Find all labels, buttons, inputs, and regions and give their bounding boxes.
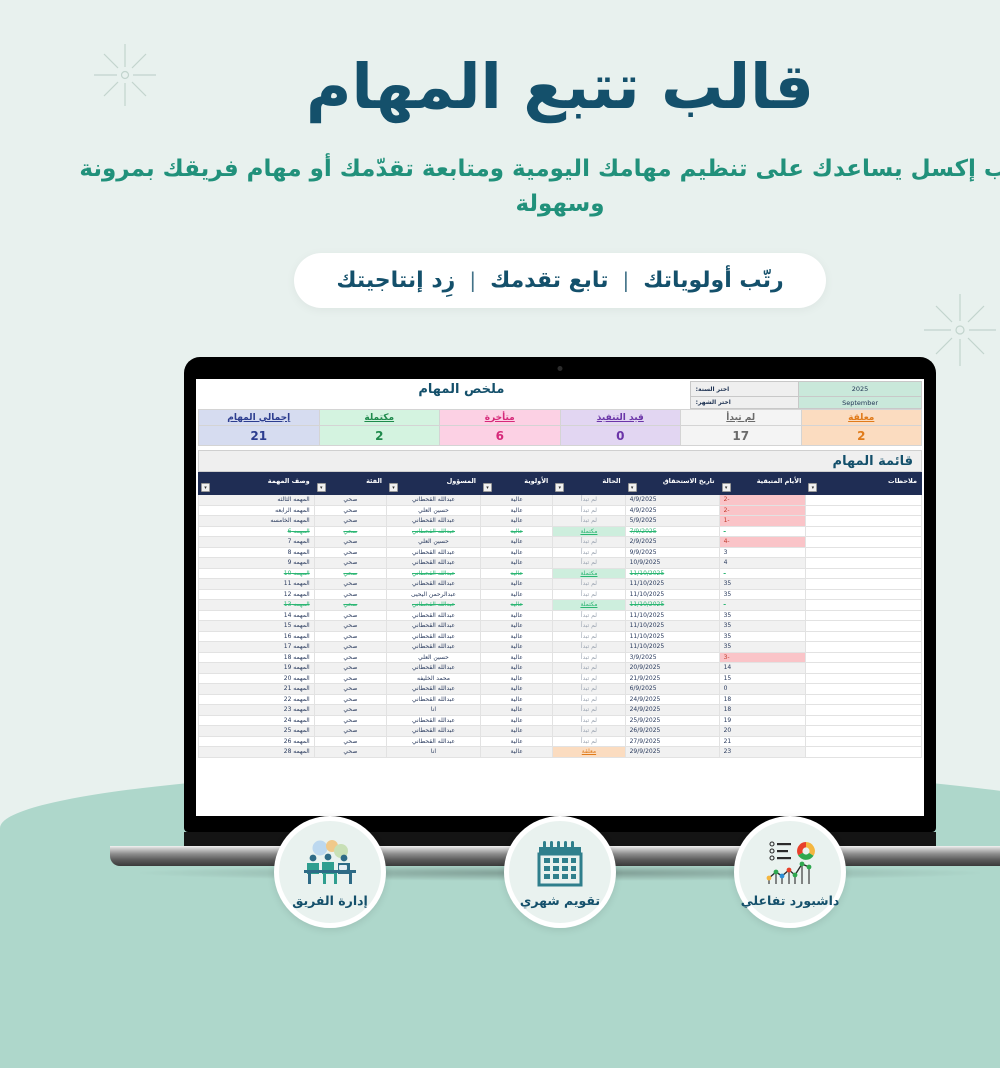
card-label-completed: مكتملة	[259, 410, 380, 426]
task-list-title: قائمة المهام	[773, 454, 853, 469]
feature-badges: داشبورد تفاعلي	[0, 816, 1000, 928]
task-table: ملاحظات▾ الأيام المتبقية▾ تاريخ الاستحقا…	[138, 472, 862, 758]
cell-owner[interactable]: عبدالله القحطاني	[327, 642, 421, 653]
cell-status[interactable]: مكتملة	[493, 600, 565, 611]
card-value-not-started: 17	[621, 426, 742, 446]
cell-category[interactable]: صحي	[254, 705, 326, 716]
cell-days-left[interactable]: -2	[659, 495, 746, 506]
cell-task-desc[interactable]: المهمه 8	[139, 547, 255, 558]
cell-notes[interactable]	[746, 747, 862, 758]
cell-priority[interactable]: عالية	[421, 537, 493, 548]
cell-notes[interactable]	[746, 579, 862, 590]
table-row[interactable]: 2329/9/2025معلقةعاليةاناصحيالمهمه 28	[139, 747, 862, 758]
cell-priority[interactable]: عالية	[421, 642, 493, 653]
cell-notes[interactable]	[746, 505, 862, 516]
cell-task-desc[interactable]: المهمه 22	[139, 694, 255, 705]
spreadsheet-view: 2025 اختر السنة: ملخص المهام September ا…	[136, 379, 864, 816]
cell-task-desc[interactable]: المهمه 10	[139, 568, 255, 579]
table-row[interactable]: 1824/9/2025لم تبدأعاليةعبدالله القحطانيص…	[139, 694, 862, 705]
summary-card-labels: معلقة لم تبدأ قيد التنفيذ متأخرة مكتملة …	[139, 410, 862, 426]
cell-owner[interactable]: عبدالرحمن اليحيى	[327, 589, 421, 600]
card-label-total: إجمالي المهام	[139, 410, 260, 426]
cell-priority[interactable]: عالية	[421, 715, 493, 726]
cell-status[interactable]: لم تبدأ	[493, 610, 565, 621]
cell-category[interactable]: صحي	[254, 715, 326, 726]
table-row[interactable]: 3511/10/2025لم تبدأعاليةعبدالله القحطاني…	[139, 579, 862, 590]
cell-task-desc[interactable]: المهمه 14	[139, 610, 255, 621]
cell-notes[interactable]	[746, 516, 862, 527]
cell-task-desc[interactable]: المهمه 18	[139, 652, 255, 663]
cell-status[interactable]: لم تبدأ	[493, 726, 565, 737]
cell-task-desc[interactable]: المهمه 16	[139, 631, 255, 642]
cell-owner[interactable]: عبدالله القحطاني	[327, 526, 421, 537]
cell-notes[interactable]	[746, 568, 862, 579]
cell-task-desc[interactable]: المهمه 12	[139, 589, 255, 600]
cell-owner[interactable]: عبدالله القحطاني	[327, 516, 421, 527]
col-due-date[interactable]: تاريخ الاستحقاق▾	[565, 473, 659, 495]
month-label: اختر الشهر:	[630, 397, 738, 409]
calendar-icon	[477, 836, 523, 890]
cell-days-left[interactable]: 19	[659, 715, 746, 726]
cell-priority[interactable]: عالية	[421, 516, 493, 527]
cell-days-left[interactable]: 35	[659, 589, 746, 600]
cell-owner[interactable]: عبدالله القحطاني	[327, 736, 421, 747]
cell-category[interactable]: صحي	[254, 694, 326, 705]
cell-notes[interactable]	[746, 495, 862, 506]
table-row[interactable]: 1925/9/2025لم تبدأعاليةعبدالله القحطانيص…	[139, 715, 862, 726]
cell-status[interactable]: مكتملة	[493, 526, 565, 537]
cell-due-date[interactable]: 29/9/2025	[565, 747, 659, 758]
cell-category[interactable]: صحي	[254, 663, 326, 674]
cell-notes[interactable]	[746, 736, 862, 747]
cell-days-left[interactable]: 0	[659, 684, 746, 695]
card-label-on-hold: معلقة	[741, 410, 862, 426]
cell-task-desc[interactable]: المهمه الثالثه	[139, 495, 255, 506]
cell-days-left[interactable]: -	[659, 526, 746, 537]
cell-category[interactable]: صحي	[254, 610, 326, 621]
cell-category[interactable]: صحي	[254, 516, 326, 527]
cell-priority[interactable]: عالية	[421, 663, 493, 674]
cell-status[interactable]: لم تبدأ	[493, 694, 565, 705]
cell-status[interactable]: مكتملة	[493, 568, 565, 579]
cell-due-date[interactable]: 4/9/2025	[565, 505, 659, 516]
card-value-total: 21	[139, 426, 260, 446]
cell-task-desc[interactable]: المهمه 9	[139, 558, 255, 569]
cell-category[interactable]: صحي	[254, 642, 326, 653]
task-table-body: -24/9/2025لم تبدأعاليةعبدالله القحطانيصح…	[139, 495, 862, 758]
col-status[interactable]: الحالة▾	[493, 473, 565, 495]
cell-due-date[interactable]: 4/9/2025	[565, 495, 659, 506]
cell-status[interactable]: معلقة	[493, 747, 565, 758]
webcam-icon	[498, 366, 503, 371]
cell-task-desc[interactable]: المهمه 15	[139, 621, 255, 632]
cell-task-desc[interactable]: المهمه 13	[139, 600, 255, 611]
table-row[interactable]: 3511/10/2025لم تبدأعاليةعبدالله القحطاني…	[139, 621, 862, 632]
cell-category[interactable]: صحي	[254, 589, 326, 600]
cell-task-desc[interactable]: المهمه 28	[139, 747, 255, 758]
cell-priority[interactable]: عالية	[421, 705, 493, 716]
table-row[interactable]: -24/9/2025لم تبدأعاليةعبدالله القحطانيصح…	[139, 495, 862, 506]
cell-days-left[interactable]: -	[659, 600, 746, 611]
cell-days-left[interactable]: 35	[659, 621, 746, 632]
cell-task-desc[interactable]: المهمه 17	[139, 642, 255, 653]
cell-category[interactable]: صحي	[254, 505, 326, 516]
cell-status[interactable]: لم تبدأ	[493, 673, 565, 684]
cell-owner[interactable]: انا	[327, 705, 421, 716]
cell-due-date[interactable]: 11/10/2025	[565, 568, 659, 579]
summary-spacer	[139, 397, 450, 409]
cell-category[interactable]: صحي	[254, 684, 326, 695]
cell-task-desc[interactable]: المهمه 20	[139, 673, 255, 684]
cell-status[interactable]: لم تبدأ	[493, 631, 565, 642]
summary-spacer	[449, 397, 630, 409]
cell-owner[interactable]: عبدالله القحطاني	[327, 684, 421, 695]
cell-task-desc[interactable]: المهمه 11	[139, 579, 255, 590]
cell-notes[interactable]	[746, 621, 862, 632]
cell-category[interactable]: صحي	[254, 600, 326, 611]
cell-task-desc[interactable]: المهمه 21	[139, 684, 255, 695]
cell-priority[interactable]: عالية	[421, 495, 493, 506]
cell-owner[interactable]: عبدالله القحطاني	[327, 631, 421, 642]
cell-due-date[interactable]: 11/10/2025	[565, 600, 659, 611]
filter-icon[interactable]: ▾	[423, 483, 432, 492]
cell-owner[interactable]: عبدالله القحطاني	[327, 694, 421, 705]
cell-task-desc[interactable]: المهمه 23	[139, 705, 255, 716]
cell-category[interactable]: صحي	[254, 631, 326, 642]
card-value-completed: 2	[259, 426, 380, 446]
feature-pill-1: رتّب أولوياتك	[583, 268, 723, 293]
table-row[interactable]: 2026/9/2025لم تبدأعاليةعبدالله القحطانيص…	[139, 726, 862, 737]
card-value-late: 6	[380, 426, 501, 446]
cell-notes[interactable]	[746, 715, 862, 726]
cell-category[interactable]: صحي	[254, 537, 326, 548]
cell-owner[interactable]: عبدالله القحطاني	[327, 568, 421, 579]
cell-days-left[interactable]: 3	[659, 547, 746, 558]
cell-days-left[interactable]: -1	[659, 516, 746, 527]
cell-task-desc[interactable]: المهمه 24	[139, 715, 255, 726]
cell-owner[interactable]: عبدالله القحطاني	[327, 558, 421, 569]
summary-card-values: 2 17 0 6 2 21	[139, 426, 862, 446]
filter-icon[interactable]: ▾	[662, 483, 671, 492]
cell-due-date[interactable]: 10/9/2025	[565, 558, 659, 569]
table-row[interactable]: 1420/9/2025لم تبدأعاليةعبدالله القحطانيص…	[139, 663, 862, 674]
cell-priority[interactable]: عالية	[421, 505, 493, 516]
filter-icon[interactable]: ▾	[141, 483, 150, 492]
card-label-not-started: لم تبدأ	[621, 410, 742, 426]
hero-section: قالب تتبع المهام قالب إكسل يساعدك على تن…	[0, 0, 1000, 308]
cell-status[interactable]: لم تبدأ	[493, 558, 565, 569]
summary-section: 2025 اختر السنة: ملخص المهام September ا…	[136, 379, 864, 446]
cell-days-left[interactable]: 23	[659, 747, 746, 758]
cell-due-date[interactable]: 11/10/2025	[565, 610, 659, 621]
cell-category[interactable]: صحي	[254, 673, 326, 684]
cell-priority[interactable]: عالية	[421, 579, 493, 590]
cell-owner[interactable]: عبدالله القحطاني	[327, 579, 421, 590]
cell-due-date[interactable]: 2/9/2025	[565, 537, 659, 548]
task-list-header: قائمة المهام	[138, 450, 862, 472]
cell-days-left[interactable]: -2	[659, 505, 746, 516]
cell-status[interactable]: لم تبدأ	[493, 736, 565, 747]
card-label-late: متأخرة	[380, 410, 501, 426]
cell-category[interactable]: صحي	[254, 747, 326, 758]
cell-priority[interactable]: عالية	[421, 736, 493, 747]
cell-task-desc[interactable]: المهمه الرابعه	[139, 505, 255, 516]
col-days-left[interactable]: الأيام المتبقية▾	[659, 473, 746, 495]
table-row[interactable]: -7/9/2025مكتملةعاليةعبدالله القحطانيصحيا…	[139, 526, 862, 537]
cell-owner[interactable]: حسين العلي	[327, 505, 421, 516]
filter-icon[interactable]: ▾	[257, 483, 266, 492]
cell-notes[interactable]	[746, 673, 862, 684]
cell-days-left[interactable]: 35	[659, 610, 746, 621]
cell-status[interactable]: لم تبدأ	[493, 642, 565, 653]
table-row[interactable]: 39/9/2025لم تبدأعاليةعبدالله القحطانيصحي…	[139, 547, 862, 558]
cell-category[interactable]: صحي	[254, 495, 326, 506]
year-label: اختر السنة:	[630, 382, 738, 397]
cell-days-left[interactable]: 14	[659, 663, 746, 674]
cell-owner[interactable]: حسين العلي	[327, 652, 421, 663]
card-value-in-progress: 0	[500, 426, 621, 446]
cell-due-date[interactable]: 9/9/2025	[565, 547, 659, 558]
table-row[interactable]: -33/9/2025لم تبدأعاليةحسين العليصحيالمهم…	[139, 652, 862, 663]
cell-category[interactable]: صحي	[254, 621, 326, 632]
cell-notes[interactable]	[746, 600, 862, 611]
col-task-desc[interactable]: وصف المهمة▾	[139, 473, 255, 495]
cell-notes[interactable]	[746, 610, 862, 621]
cell-status[interactable]: لم تبدأ	[493, 705, 565, 716]
table-row[interactable]: -24/9/2025لم تبدأعاليةحسين العليصحيالمهم…	[139, 505, 862, 516]
cell-status[interactable]: لم تبدأ	[493, 715, 565, 726]
cell-days-left[interactable]: 15	[659, 673, 746, 684]
page-title: قالب تتبع المهام	[0, 48, 1000, 126]
cell-due-date[interactable]: 11/10/2025	[565, 642, 659, 653]
laptop-mockup: 2025 اختر السنة: ملخص المهام September ا…	[124, 357, 876, 872]
cell-days-left[interactable]: 4	[659, 558, 746, 569]
cell-priority[interactable]: عالية	[421, 673, 493, 684]
cell-due-date[interactable]: 27/9/2025	[565, 736, 659, 747]
cell-owner[interactable]: محمد الخليفه	[327, 673, 421, 684]
cell-due-date[interactable]: 26/9/2025	[565, 726, 659, 737]
cell-priority[interactable]: عالية	[421, 589, 493, 600]
cell-due-date[interactable]: 7/9/2025	[565, 526, 659, 537]
cell-task-desc[interactable]: المهمه 6	[139, 526, 255, 537]
table-row[interactable]: -11/10/2025مكتملةعاليةعبدالله القحطانيصح…	[139, 568, 862, 579]
cell-priority[interactable]: عالية	[421, 558, 493, 569]
col-priority[interactable]: الأولوية▾	[421, 473, 493, 495]
cell-due-date[interactable]: 6/9/2025	[565, 684, 659, 695]
table-row[interactable]: 3511/10/2025لم تبدأعاليةعبدالله القحطاني…	[139, 631, 862, 642]
col-notes[interactable]: ملاحظات▾	[746, 473, 862, 495]
cell-owner[interactable]: عبدالله القحطاني	[327, 610, 421, 621]
month-value[interactable]: September	[739, 397, 862, 409]
cell-priority[interactable]: عالية	[421, 652, 493, 663]
cell-days-left[interactable]: -3	[659, 652, 746, 663]
cell-due-date[interactable]: 24/9/2025	[565, 705, 659, 716]
filter-icon[interactable]: ▾	[568, 483, 577, 492]
cell-notes[interactable]	[746, 726, 862, 737]
cell-due-date[interactable]: 24/9/2025	[565, 694, 659, 705]
feature-pill-bar: رتّب أولوياتك | تابع تقدمك | زِد إنتاجيت…	[234, 253, 765, 308]
cell-status[interactable]: لم تبدأ	[493, 621, 565, 632]
cell-days-left[interactable]: 35	[659, 579, 746, 590]
cell-status[interactable]: لم تبدأ	[493, 537, 565, 548]
cell-notes[interactable]	[746, 705, 862, 716]
cell-owner[interactable]: عبدالله القحطاني	[327, 495, 421, 506]
cell-owner[interactable]: حسين العلي	[327, 537, 421, 548]
cell-days-left[interactable]: 18	[659, 694, 746, 705]
task-table-header-row: ملاحظات▾ الأيام المتبقية▾ تاريخ الاستحقا…	[139, 473, 862, 495]
cell-status[interactable]: لم تبدأ	[493, 495, 565, 506]
cell-days-left[interactable]: 35	[659, 631, 746, 642]
cell-notes[interactable]	[746, 537, 862, 548]
cell-priority[interactable]: عالية	[421, 600, 493, 611]
cell-notes[interactable]	[746, 589, 862, 600]
cell-priority[interactable]: عالية	[421, 621, 493, 632]
dashboard-chart-icon	[704, 836, 756, 890]
table-row[interactable]: 3511/10/2025لم تبدأعاليةعبدالله القحطاني…	[139, 610, 862, 621]
laptop-screen-bezel: 2025 اختر السنة: ملخص المهام September ا…	[124, 357, 876, 832]
cell-notes[interactable]	[746, 631, 862, 642]
summary-cards: معلقة لم تبدأ قيد التنفيذ متأخرة مكتملة …	[138, 409, 862, 446]
table-row[interactable]: -11/10/2025مكتملةعاليةعبدالله القحطانيصح…	[139, 600, 862, 611]
summary-title: ملخص المهام	[139, 382, 450, 397]
summary-spacer	[449, 382, 630, 397]
cell-notes[interactable]	[746, 684, 862, 695]
table-row[interactable]: 3511/10/2025لم تبدأعاليةعبدالله القحطاني…	[139, 642, 862, 653]
cell-category[interactable]: صحي	[254, 726, 326, 737]
feature-pill-3: زِد إنتاجيتك	[276, 268, 395, 293]
cell-notes[interactable]	[746, 652, 862, 663]
cell-due-date[interactable]: 11/10/2025	[565, 621, 659, 632]
table-row[interactable]: 1824/9/2025لم تبدأعاليةاناصحيالمهمه 23	[139, 705, 862, 716]
cell-owner[interactable]: عبدالله القحطاني	[327, 663, 421, 674]
badge-dashboard[interactable]: داشبورد تفاعلي	[674, 816, 786, 928]
cell-notes[interactable]	[746, 547, 862, 558]
cell-days-left[interactable]: -	[659, 568, 746, 579]
table-row[interactable]: -42/9/2025لم تبدأعاليةحسين العليصحيالمهم…	[139, 537, 862, 548]
badge-team[interactable]: إدارة الفريق	[214, 816, 326, 928]
table-row[interactable]: -15/9/2025لم تبدأعاليةعبدالله القحطانيصح…	[139, 516, 862, 527]
table-row[interactable]: 06/9/2025لم تبدأعاليةعبدالله القحطانيصحي…	[139, 684, 862, 695]
cell-owner[interactable]: عبدالله القحطاني	[327, 600, 421, 611]
cell-due-date[interactable]: 5/9/2025	[565, 516, 659, 527]
cell-status[interactable]: لم تبدأ	[493, 684, 565, 695]
card-value-on-hold: 2	[741, 426, 862, 446]
table-row[interactable]: 3511/10/2025لم تبدأعاليةعبدالرحمن اليحيى…	[139, 589, 862, 600]
cell-notes[interactable]	[746, 663, 862, 674]
cell-owner[interactable]: عبدالله القحطاني	[327, 726, 421, 737]
table-row[interactable]: 1521/9/2025لم تبدأعاليةمحمد الخليفهصحيال…	[139, 673, 862, 684]
cell-task-desc[interactable]: المهمه 7	[139, 537, 255, 548]
pill-separator: |	[562, 268, 569, 292]
cell-notes[interactable]	[746, 558, 862, 569]
cell-category[interactable]: صحي	[254, 558, 326, 569]
filter-icon[interactable]: ▾	[329, 483, 338, 492]
cell-priority[interactable]: عالية	[421, 694, 493, 705]
cell-due-date[interactable]: 25/9/2025	[565, 715, 659, 726]
cell-priority[interactable]: عالية	[421, 747, 493, 758]
filter-icon[interactable]: ▾	[495, 483, 504, 492]
cell-priority[interactable]: عالية	[421, 610, 493, 621]
pill-separator: |	[409, 268, 416, 292]
cell-priority[interactable]: عالية	[421, 726, 493, 737]
cell-category[interactable]: صحي	[254, 568, 326, 579]
cell-status[interactable]: لم تبدأ	[493, 516, 565, 527]
cell-due-date[interactable]: 11/10/2025	[565, 579, 659, 590]
cell-category[interactable]: صحي	[254, 547, 326, 558]
cell-days-left[interactable]: 18	[659, 705, 746, 716]
cell-priority[interactable]: عالية	[421, 684, 493, 695]
cell-status[interactable]: لم تبدأ	[493, 652, 565, 663]
cell-due-date[interactable]: 11/10/2025	[565, 589, 659, 600]
col-owner[interactable]: المسؤول▾	[327, 473, 421, 495]
cell-status[interactable]: لم تبدأ	[493, 505, 565, 516]
cell-days-left[interactable]: 20	[659, 726, 746, 737]
cell-task-desc[interactable]: المهمه 25	[139, 726, 255, 737]
cell-due-date[interactable]: 21/9/2025	[565, 673, 659, 684]
cell-notes[interactable]	[746, 642, 862, 653]
cell-task-desc[interactable]: المهمه 19	[139, 663, 255, 674]
col-category[interactable]: الفئة▾	[254, 473, 326, 495]
card-label-in-progress: قيد التنفيذ	[500, 410, 621, 426]
cell-status[interactable]: لم تبدأ	[493, 579, 565, 590]
cell-status[interactable]: لم تبدأ	[493, 547, 565, 558]
table-row[interactable]: 410/9/2025لم تبدأعاليةعبدالله القحطانيصح…	[139, 558, 862, 569]
cell-days-left[interactable]: 35	[659, 642, 746, 653]
table-row[interactable]: 2127/9/2025لم تبدأعاليةعبدالله القحطانيص…	[139, 736, 862, 747]
cell-owner[interactable]: انا	[327, 747, 421, 758]
cell-category[interactable]: صحي	[254, 526, 326, 537]
cell-category[interactable]: صحي	[254, 736, 326, 747]
cell-status[interactable]: لم تبدأ	[493, 589, 565, 600]
cell-due-date[interactable]: 3/9/2025	[565, 652, 659, 663]
cell-notes[interactable]	[746, 526, 862, 537]
cell-days-left[interactable]: 21	[659, 736, 746, 747]
page-subtitle: قالب إكسل يساعدك على تنظيم مهامك اليومية…	[10, 152, 990, 223]
cell-status[interactable]: لم تبدأ	[493, 663, 565, 674]
cell-category[interactable]: صحي	[254, 652, 326, 663]
feature-pill-2: تابع تقدمك	[430, 268, 548, 293]
cell-category[interactable]: صحي	[254, 579, 326, 590]
cell-due-date[interactable]: 11/10/2025	[565, 631, 659, 642]
cell-priority[interactable]: عالية	[421, 547, 493, 558]
badge-calendar-caption: تقويم شهري	[460, 893, 540, 908]
cell-notes[interactable]	[746, 694, 862, 705]
cell-priority[interactable]: عالية	[421, 526, 493, 537]
cell-owner[interactable]: عبدالله القحطاني	[327, 621, 421, 632]
cell-priority[interactable]: عالية	[421, 568, 493, 579]
cell-owner[interactable]: عبدالله القحطاني	[327, 715, 421, 726]
cell-priority[interactable]: عالية	[421, 631, 493, 642]
team-people-icon	[243, 836, 297, 890]
cell-task-desc[interactable]: المهمه 26	[139, 736, 255, 747]
badge-dashboard-caption: داشبورد تفاعلي	[681, 893, 780, 908]
cell-owner[interactable]: عبدالله القحطاني	[327, 547, 421, 558]
cell-due-date[interactable]: 20/9/2025	[565, 663, 659, 674]
cell-days-left[interactable]: -4	[659, 537, 746, 548]
cell-task-desc[interactable]: المهمه الخامسه	[139, 516, 255, 527]
badge-calendar[interactable]: تقويم شهري	[444, 816, 556, 928]
filter-icon[interactable]: ▾	[748, 483, 757, 492]
year-value[interactable]: 2025	[739, 382, 862, 397]
badge-team-caption: إدارة الفريق	[232, 893, 308, 908]
